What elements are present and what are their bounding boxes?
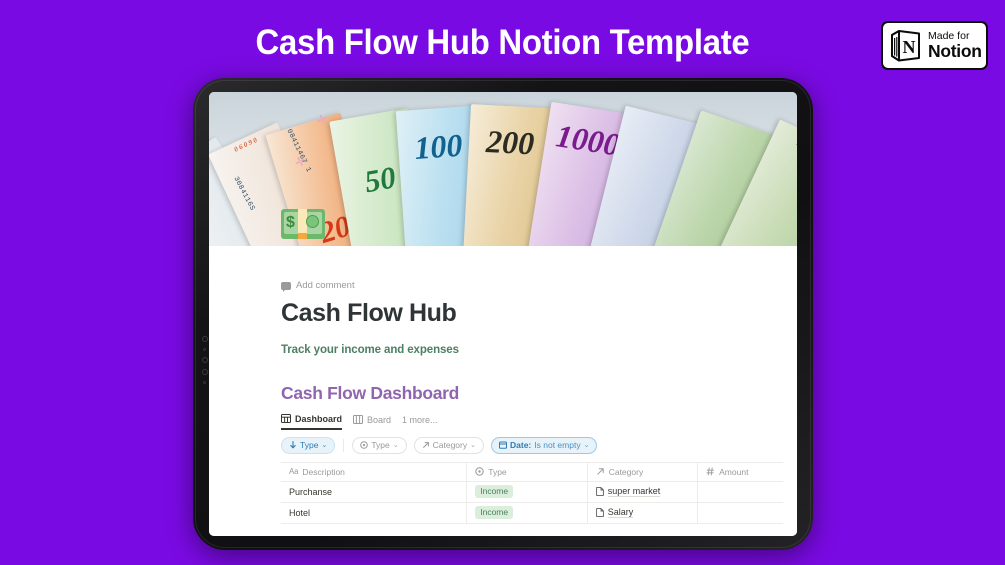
relation-arrow-icon xyxy=(422,441,430,449)
filter-pill-date-label: Date: xyxy=(510,440,531,450)
connector-dot xyxy=(203,381,206,384)
filter-pill-category-label: Category xyxy=(433,440,468,450)
notion-page-title[interactable]: Cash Flow Hub xyxy=(281,300,783,328)
table-header-row: Aa Description Type xyxy=(281,462,783,481)
database-table: Aa Description Type xyxy=(281,462,783,524)
cell-description[interactable]: Hotel xyxy=(281,502,467,523)
cell-amount[interactable] xyxy=(698,502,783,523)
tab-dashboard-label: Dashboard xyxy=(295,414,342,424)
connector-dot xyxy=(202,357,208,363)
cell-type[interactable]: Income xyxy=(467,481,587,502)
tablet-side-connector-dots xyxy=(201,336,209,384)
tab-dashboard[interactable]: Dashboard xyxy=(281,414,342,430)
toolbar-divider xyxy=(343,439,344,452)
sort-down-icon xyxy=(289,441,297,449)
made-for-notion-badge: N Made for Notion xyxy=(881,21,988,70)
comment-bubble-icon xyxy=(281,282,291,290)
database-heading: Cash Flow Dashboard xyxy=(281,383,783,404)
board-view-icon xyxy=(353,415,363,424)
column-header-description-label: Description xyxy=(302,467,345,477)
tablet-screen: 0 6 0 9 0 20 50 100 200 1000 1000 xyxy=(209,92,797,536)
column-header-description[interactable]: Aa Description xyxy=(281,462,467,481)
page-icon xyxy=(596,508,604,517)
filter-pill-category[interactable]: Category ⌄ xyxy=(414,437,484,454)
status-badge: Income xyxy=(475,506,513,519)
table-row[interactable]: Purchanse Income super market xyxy=(281,481,783,502)
connector-dot xyxy=(202,369,208,375)
tab-board-label: Board xyxy=(367,415,391,425)
column-header-type-label: Type xyxy=(488,467,506,477)
table-row[interactable]: Hotel Income Salary xyxy=(281,502,783,523)
text-aa-icon: Aa xyxy=(289,467,298,476)
tab-board[interactable]: Board xyxy=(353,415,391,429)
cell-category[interactable]: super market xyxy=(587,481,697,502)
status-badge: Income xyxy=(475,485,513,498)
chevron-down-icon: ⌄ xyxy=(470,441,476,449)
relation-label[interactable]: Salary xyxy=(608,507,634,518)
notion-page-subtitle: Track your income and expenses xyxy=(281,344,783,356)
cell-amount[interactable] xyxy=(698,481,783,502)
connector-dot xyxy=(202,336,208,342)
chevron-down-icon: ⌄ xyxy=(393,441,399,449)
filter-pill-date-value: Is not empty xyxy=(534,440,580,450)
svg-text:N: N xyxy=(903,37,916,57)
filter-pill-type[interactable]: Type ⌄ xyxy=(352,437,406,454)
sort-pill-type[interactable]: Type ⌄ xyxy=(281,437,335,454)
cell-description[interactable]: Purchanse xyxy=(281,481,467,502)
database-filter-bar: Type ⌄ Type ⌄ xyxy=(281,437,783,454)
database-view-tabs: Dashboard Board 1 more... xyxy=(281,414,783,430)
column-header-category[interactable]: Category xyxy=(587,462,697,481)
notion-book-icon: N xyxy=(890,29,921,62)
select-circle-icon xyxy=(475,467,484,476)
connector-dot xyxy=(203,348,206,351)
select-circle-icon xyxy=(360,441,368,449)
money-banknote-emoji[interactable]: $ xyxy=(281,209,325,239)
badge-made-for-label: Made for xyxy=(928,31,982,42)
chevron-down-icon: ⌄ xyxy=(321,441,327,449)
calendar-icon xyxy=(499,441,507,449)
column-header-amount[interactable]: Amount xyxy=(698,462,783,481)
filter-pill-type-label: Type xyxy=(371,440,389,450)
add-comment-label: Add comment xyxy=(296,280,355,291)
column-header-type[interactable]: Type xyxy=(467,462,587,481)
cell-category[interactable]: Salary xyxy=(587,502,697,523)
relation-arrow-icon xyxy=(596,467,605,476)
page-icon xyxy=(596,487,604,496)
badge-notion-label: Notion xyxy=(928,43,982,61)
filter-pill-date[interactable]: Date: Is not empty ⌄ xyxy=(491,437,597,454)
table-view-icon xyxy=(281,414,291,423)
more-views-button[interactable]: 1 more... xyxy=(402,415,438,429)
chevron-down-icon: ⌄ xyxy=(584,441,590,449)
sort-pill-label: Type xyxy=(300,440,318,450)
add-comment-button[interactable]: Add comment xyxy=(281,280,783,291)
page-title: Cash Flow Hub Notion Template xyxy=(30,22,975,64)
notion-page-body: $ Add comment Cash Flow Hub Track your i… xyxy=(209,246,797,536)
tablet-device-frame: 0 6 0 9 0 20 50 100 200 1000 1000 xyxy=(193,78,813,550)
number-hash-icon xyxy=(706,467,715,476)
cell-type[interactable]: Income xyxy=(467,502,587,523)
column-header-category-label: Category xyxy=(609,467,644,477)
relation-label[interactable]: super market xyxy=(608,486,661,497)
column-header-amount-label: Amount xyxy=(719,467,748,477)
